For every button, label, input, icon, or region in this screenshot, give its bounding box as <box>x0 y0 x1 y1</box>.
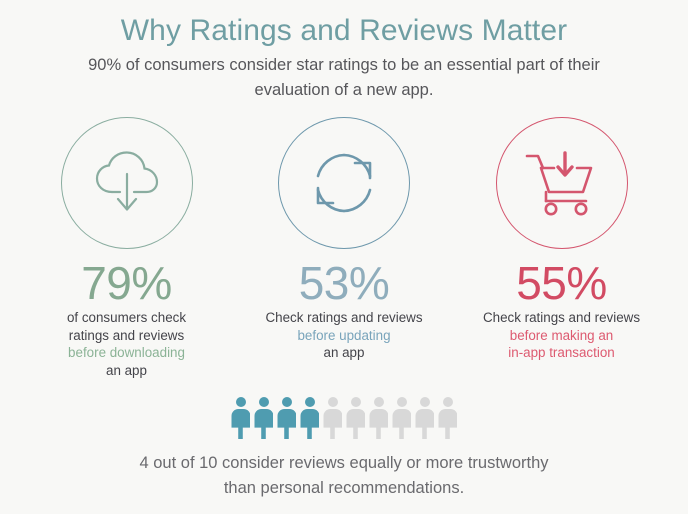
caption-line-highlight: before making an <box>483 327 640 345</box>
caption-line-highlight: in-app transaction <box>483 344 640 362</box>
person-icon-muted <box>368 397 389 439</box>
footer-line-2: than personal recommendations. <box>44 476 644 501</box>
person-head <box>443 397 453 407</box>
person-body <box>392 409 411 439</box>
footer-line-1: 4 out of 10 consider reviews equally or … <box>44 451 644 476</box>
person-head <box>420 397 430 407</box>
person-body <box>415 409 434 439</box>
cloud-download-icon <box>90 150 164 216</box>
person-body <box>323 409 342 439</box>
person-head <box>282 397 292 407</box>
person-icon-muted <box>391 397 412 439</box>
person-body <box>231 409 250 439</box>
person-head <box>328 397 338 407</box>
refresh-icon <box>308 147 380 219</box>
caption-line: an app <box>67 362 186 380</box>
stat-column-updating: 53% Check ratings and reviews before upd… <box>242 117 447 362</box>
infographic-root: Why Ratings and Reviews Matter 90% of co… <box>0 0 688 514</box>
caption-line: Check ratings and reviews <box>483 309 640 327</box>
subtitle-line-1: 90% of consumers consider star ratings t… <box>44 53 644 78</box>
person-body <box>369 409 388 439</box>
stat-value-53: 53% <box>299 259 390 307</box>
person-icon-muted <box>322 397 343 439</box>
person-icon-muted <box>414 397 435 439</box>
caption-line: of consumers check <box>67 309 186 327</box>
caption-line-highlight: before downloading <box>67 344 186 362</box>
page-title: Why Ratings and Reviews Matter <box>0 12 688 50</box>
person-body <box>277 409 296 439</box>
stat-column-transaction: 55% Check ratings and reviews before mak… <box>459 117 664 362</box>
stat-caption-updating: Check ratings and reviews before updatin… <box>265 309 422 362</box>
people-pictogram <box>230 395 458 439</box>
person-body <box>300 409 319 439</box>
caption-line-highlight: before updating <box>265 327 422 345</box>
person-head <box>259 397 269 407</box>
person-head <box>397 397 407 407</box>
person-body <box>346 409 365 439</box>
caption-line: ratings and reviews <box>67 327 186 345</box>
header: Why Ratings and Reviews Matter 90% of co… <box>0 0 688 103</box>
person-head <box>351 397 361 407</box>
person-icon-muted <box>437 397 458 439</box>
person-icon-highlighted <box>230 397 251 439</box>
stat-column-downloading: 79% of consumers check ratings and revie… <box>24 117 229 379</box>
icon-circle-green <box>61 117 193 249</box>
caption-line: Check ratings and reviews <box>265 309 422 327</box>
person-head <box>305 397 315 407</box>
stats-row: 79% of consumers check ratings and revie… <box>24 117 664 379</box>
person-icon-highlighted <box>276 397 297 439</box>
person-head <box>236 397 246 407</box>
person-icon-highlighted <box>253 397 274 439</box>
icon-circle-red <box>496 117 628 249</box>
footer-text: 4 out of 10 consider reviews equally or … <box>44 451 644 501</box>
person-icon-muted <box>345 397 366 439</box>
caption-line: an app <box>265 344 422 362</box>
shopping-cart-download-icon <box>521 148 603 218</box>
subtitle: 90% of consumers consider star ratings t… <box>44 53 644 103</box>
stat-value-79: 79% <box>81 259 172 307</box>
subtitle-line-2: evaluation of a new app. <box>44 78 644 103</box>
icon-circle-blue <box>278 117 410 249</box>
stat-caption-downloading: of consumers check ratings and reviews b… <box>67 309 186 379</box>
stat-value-55: 55% <box>516 259 607 307</box>
person-body <box>254 409 273 439</box>
stat-caption-transaction: Check ratings and reviews before making … <box>483 309 640 362</box>
person-icon-highlighted <box>299 397 320 439</box>
person-body <box>438 409 457 439</box>
person-head <box>374 397 384 407</box>
